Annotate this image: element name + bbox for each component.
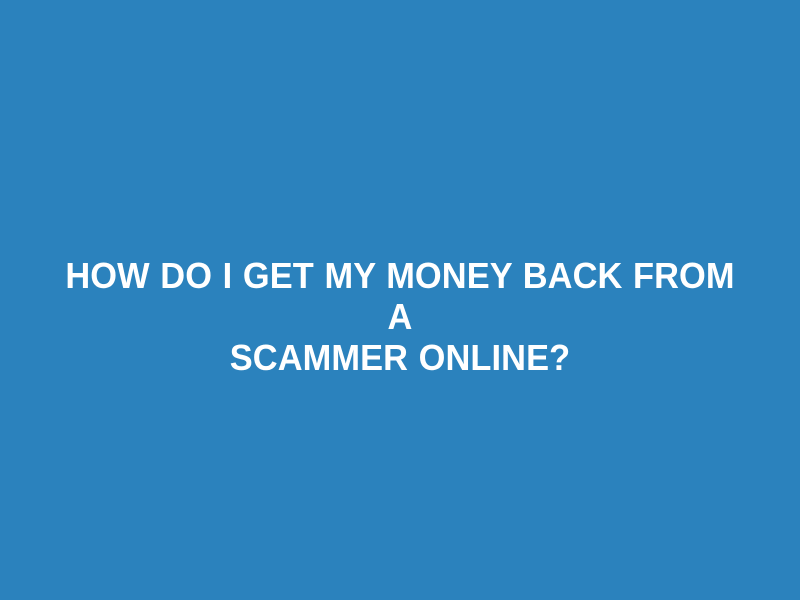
article-header-card: How do I get my money back from a Scamme… [0,0,800,600]
title-block: How do I get my money back from a Scamme… [0,255,800,378]
page-title: How do I get my money back from a Scamme… [56,255,744,378]
